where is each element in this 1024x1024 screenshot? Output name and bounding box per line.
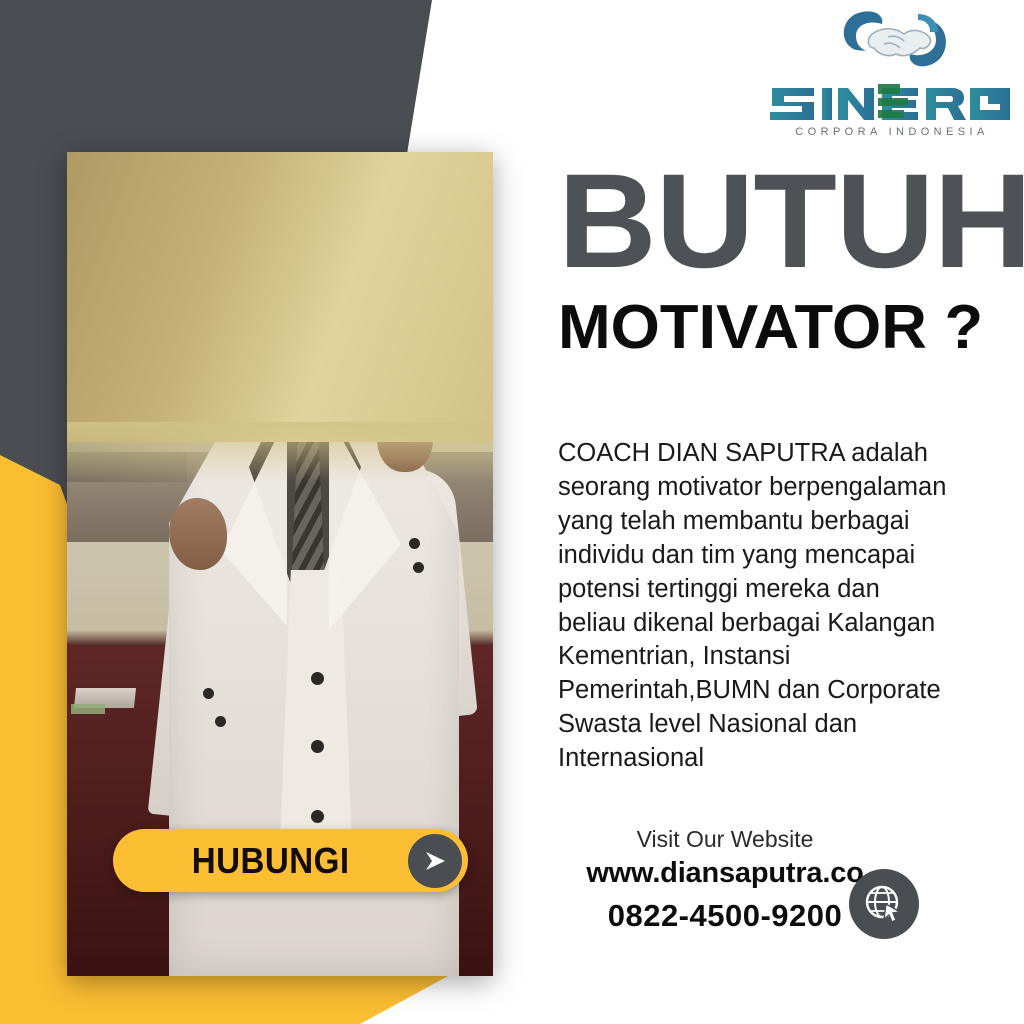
- visit-website-label: Visit Our Website: [556, 826, 956, 853]
- globe-cursor-icon: [849, 869, 919, 939]
- vest-button: [311, 740, 324, 753]
- cuff-button: [413, 562, 424, 573]
- vest-button: [311, 810, 324, 823]
- cuff-button: [203, 688, 214, 699]
- left-hand: [169, 498, 227, 570]
- contact-button[interactable]: HUBUNGI: [113, 829, 468, 892]
- brand-subtitle: CORPORA INDONESIA: [766, 126, 1018, 138]
- brand-wordmark: [766, 78, 1018, 124]
- body-paragraph: COACH DIAN SAPUTRA adalah seorang motiva…: [558, 437, 950, 776]
- papers-green: [71, 704, 105, 714]
- photo-gold-fade: [67, 422, 493, 482]
- headline-block: BUTUH MOTIVATOR ?: [558, 164, 978, 359]
- poster-canvas: HUBUNGI: [0, 0, 1024, 1024]
- send-arrow-icon: [408, 834, 462, 888]
- cuff-button: [409, 538, 420, 549]
- photo-gold-overlay: [67, 152, 493, 442]
- contact-button-label: HUBUNGI: [125, 840, 396, 882]
- vest: [279, 570, 353, 870]
- cuff-button: [215, 716, 226, 727]
- vest-button: [311, 672, 324, 685]
- headline-line-1: BUTUH: [558, 164, 986, 279]
- brand-logo: CORPORA INDONESIA: [766, 4, 1018, 150]
- headline-line-2: MOTIVATOR ?: [558, 297, 986, 359]
